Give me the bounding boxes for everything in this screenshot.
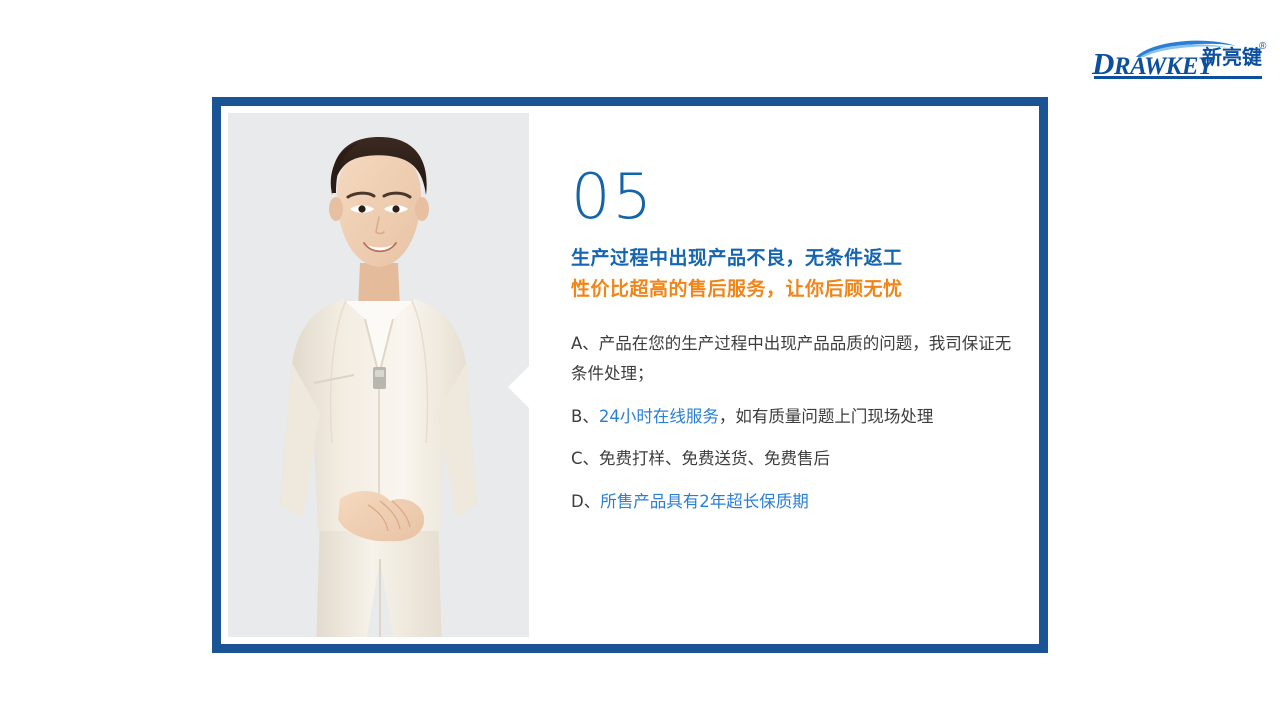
logo-wordmark: DRAWKEY [1092,48,1213,79]
bullet-item-c: C、免费打样、免费送货、免费售后 [571,444,1021,475]
bullet-text-d-0: 所售产品具有2年超长保质期 [600,492,809,511]
bullet-text-b-1: ，如有质量问题上门现场处理 [719,407,934,426]
bullet-marker-d: D、 [571,492,600,511]
bullet-text-b-0: 24小时在线服务 [599,407,719,426]
bullet-marker-b: B、 [571,407,599,426]
headline-secondary: 性价比超高的售后服务，让你后顾无忧 [571,275,1021,304]
bullet-marker-c: C、 [571,449,599,468]
bullet-text-c-0: 免费打样、免费送货、免费售后 [599,449,830,468]
bullet-item-a: A、产品在您的生产过程中出现产品品质的问题，我司保证无条件处理； [571,329,1021,390]
bullet-text-a-0: 产品在您的生产过程中出现产品品质的问题，我司保证无条件处理； [571,334,1011,384]
logo-underline [1094,76,1262,79]
bullet-item-b: B、24小时在线服务，如有质量问题上门现场处理 [571,402,1021,433]
bullet-list: A、产品在您的生产过程中出现产品品质的问题，我司保证无条件处理； B、24小时在… [571,329,1021,518]
logo-chinese-name: 新亮键 [1202,47,1262,67]
slide-inner: 05 生产过程中出现产品不良，无条件返工 性价比超高的售后服务，让你后顾无忧 A… [221,106,1039,644]
headline-primary: 生产过程中出现产品不良，无条件返工 [571,244,1021,273]
step-number: 05 [571,166,1021,228]
content-panel: 05 生产过程中出现产品不良，无条件返工 性价比超高的售后服务，让你后顾无忧 A… [529,106,1039,644]
bullet-item-d: D、所售产品具有2年超长保质期 [571,487,1021,518]
bullet-marker-a: A、 [571,334,599,353]
businesswoman-photo [228,113,529,637]
registered-trademark-icon: ® [1259,42,1266,52]
photo-panel [228,113,529,637]
slide-frame: 05 生产过程中出现产品不良，无条件返工 性价比超高的售后服务，让你后顾无忧 A… [212,97,1048,653]
brand-logo: DRAWKEY 新亮键 ® [1092,38,1268,82]
